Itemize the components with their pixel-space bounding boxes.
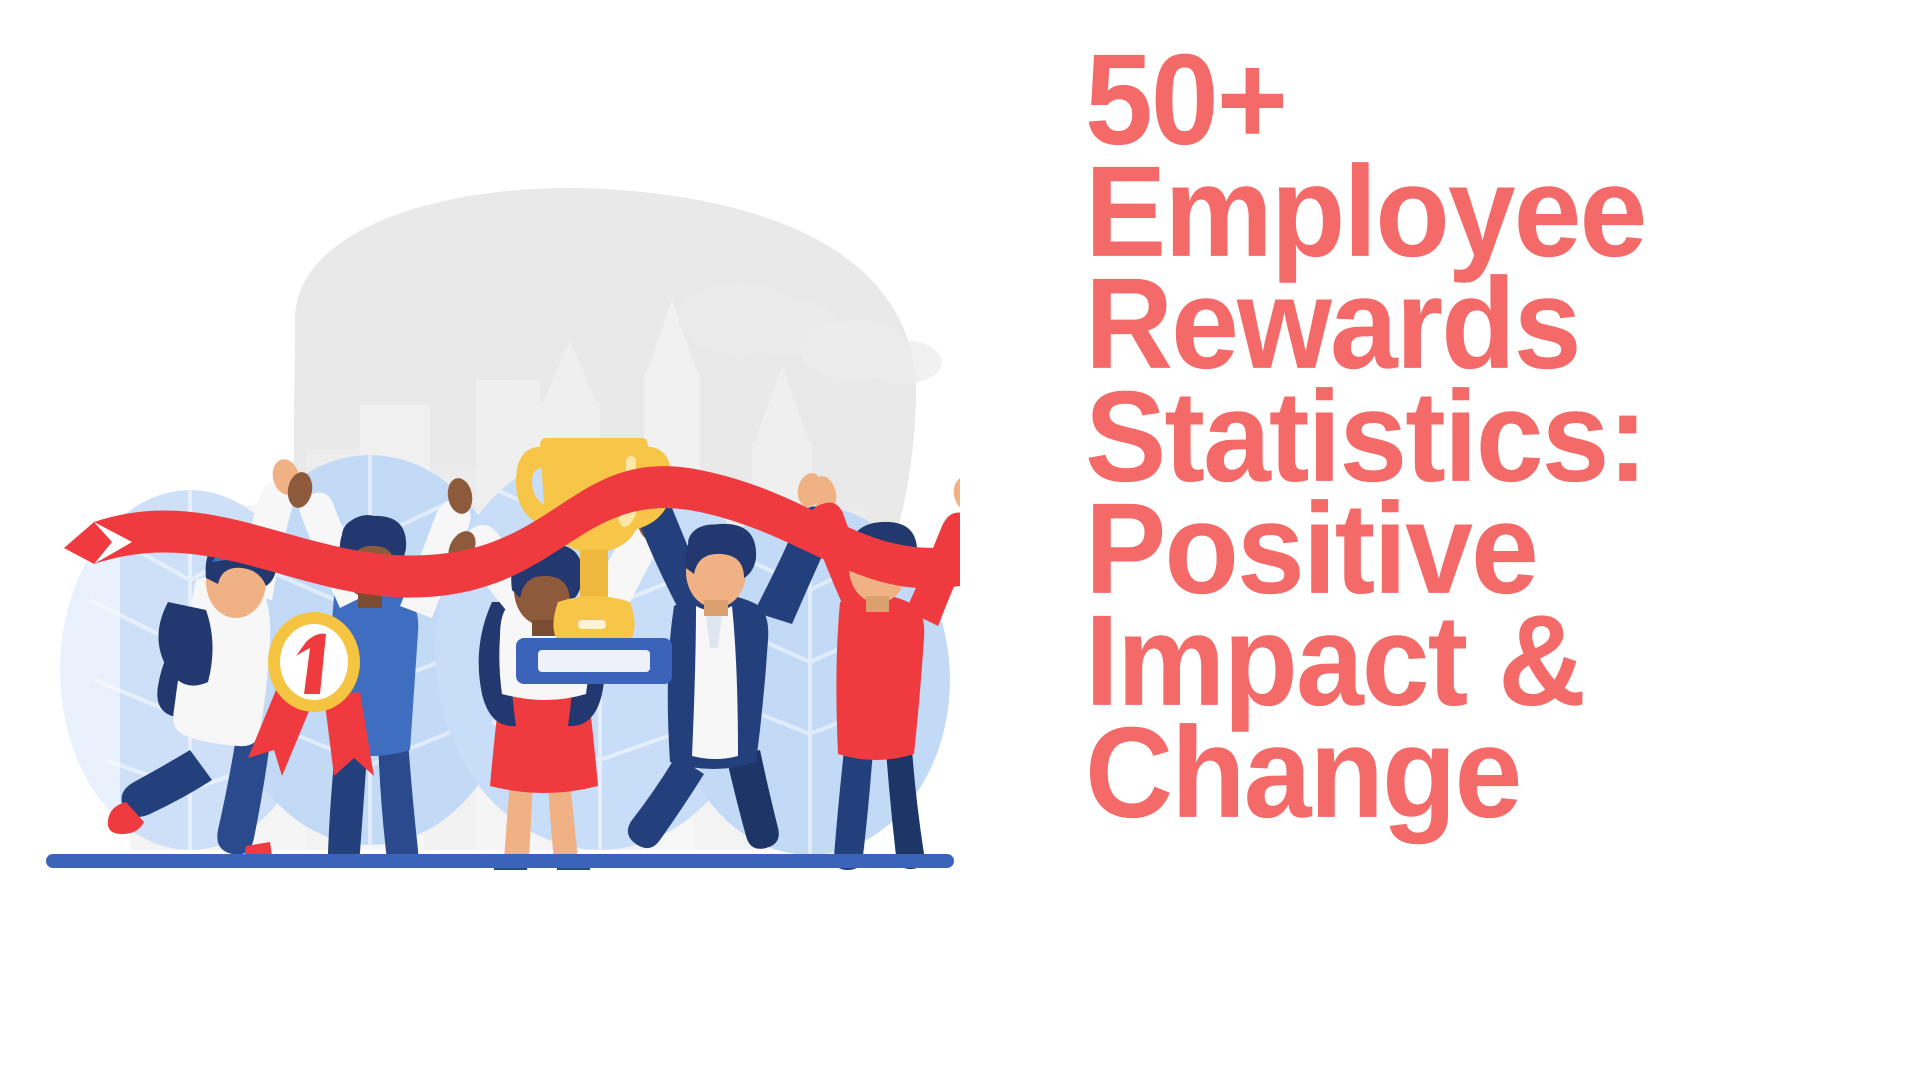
poster-canvas: 50+ Employee Rewards Statistics: Positiv…	[0, 0, 1920, 1080]
title-line-7: Change	[1085, 713, 1875, 832]
ground-line	[46, 854, 954, 868]
hero-illustration	[40, 150, 960, 870]
page-title: 50+ Employee Rewards Statistics: Positiv…	[1085, 40, 1875, 1050]
